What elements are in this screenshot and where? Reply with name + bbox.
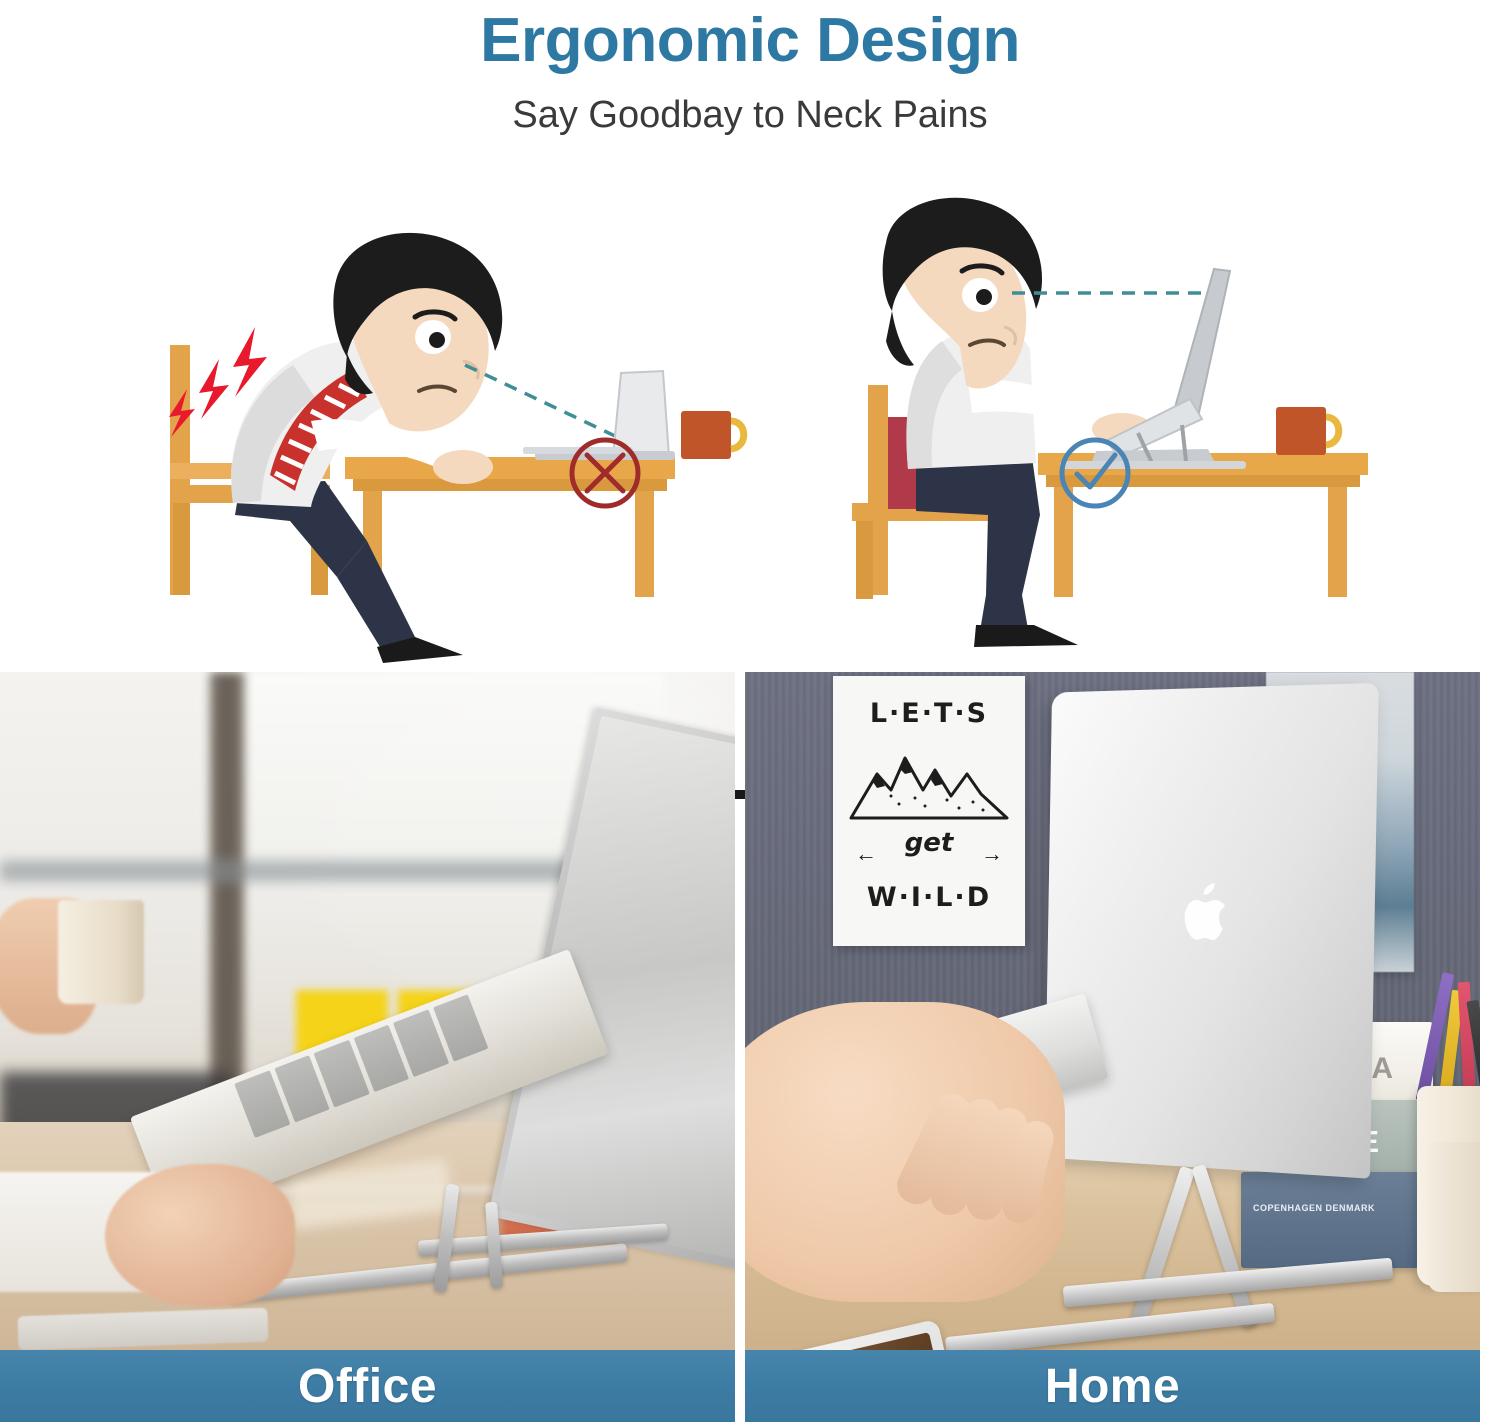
mug-right-edge	[1428, 1142, 1480, 1292]
office-photo	[0, 672, 735, 1422]
red-x-circle-icon	[565, 433, 645, 513]
book-copenhagen-label: COPENHAGEN DENMARK	[1253, 1202, 1375, 1216]
wall-poster: L·E·T·S ← → get W·I·L·D	[833, 676, 1025, 946]
home-photo: L·E·T·S ← → get W·I·L·D	[745, 672, 1480, 1422]
page-title: Ergonomic Design	[0, 8, 1500, 73]
posture-comparison-illustration	[0, 185, 1500, 665]
office-caption-label: Office	[298, 1359, 437, 1414]
bad-posture-scene	[115, 185, 755, 665]
office-photo-panel: Office	[0, 672, 735, 1422]
good-posture-scene	[790, 185, 1430, 665]
coffee-mug	[58, 900, 144, 1004]
apple-logo-icon	[1175, 878, 1237, 949]
lifestyle-photo-row: Office L·E·T·S	[0, 672, 1500, 1422]
book-copenhagen	[1241, 1172, 1419, 1268]
hand-typing	[105, 1164, 295, 1306]
page-subtitle: Say Goodbay to Neck Pains	[0, 95, 1500, 137]
home-caption-bar: Home	[745, 1350, 1480, 1422]
office-caption-bar: Office	[0, 1350, 735, 1422]
home-photo-panel: L·E·T·S ← → get W·I·L·D	[745, 672, 1480, 1422]
header: Ergonomic Design Say Goodbay to Neck Pai…	[0, 0, 1500, 137]
coffee-mug-good	[1276, 407, 1339, 455]
poster-line-mid: get	[833, 828, 1025, 858]
blue-check-circle-icon	[1055, 433, 1135, 513]
mountain-range-icon	[847, 734, 1011, 824]
poster-line-top: L·E·T·S	[833, 698, 1025, 729]
macbook-lid	[1044, 683, 1379, 1179]
poster-line-bottom: W·I·L·D	[833, 882, 1025, 913]
legs-bad	[235, 481, 463, 663]
home-caption-label: Home	[1045, 1359, 1180, 1414]
coffee-mug-bad	[681, 411, 744, 459]
